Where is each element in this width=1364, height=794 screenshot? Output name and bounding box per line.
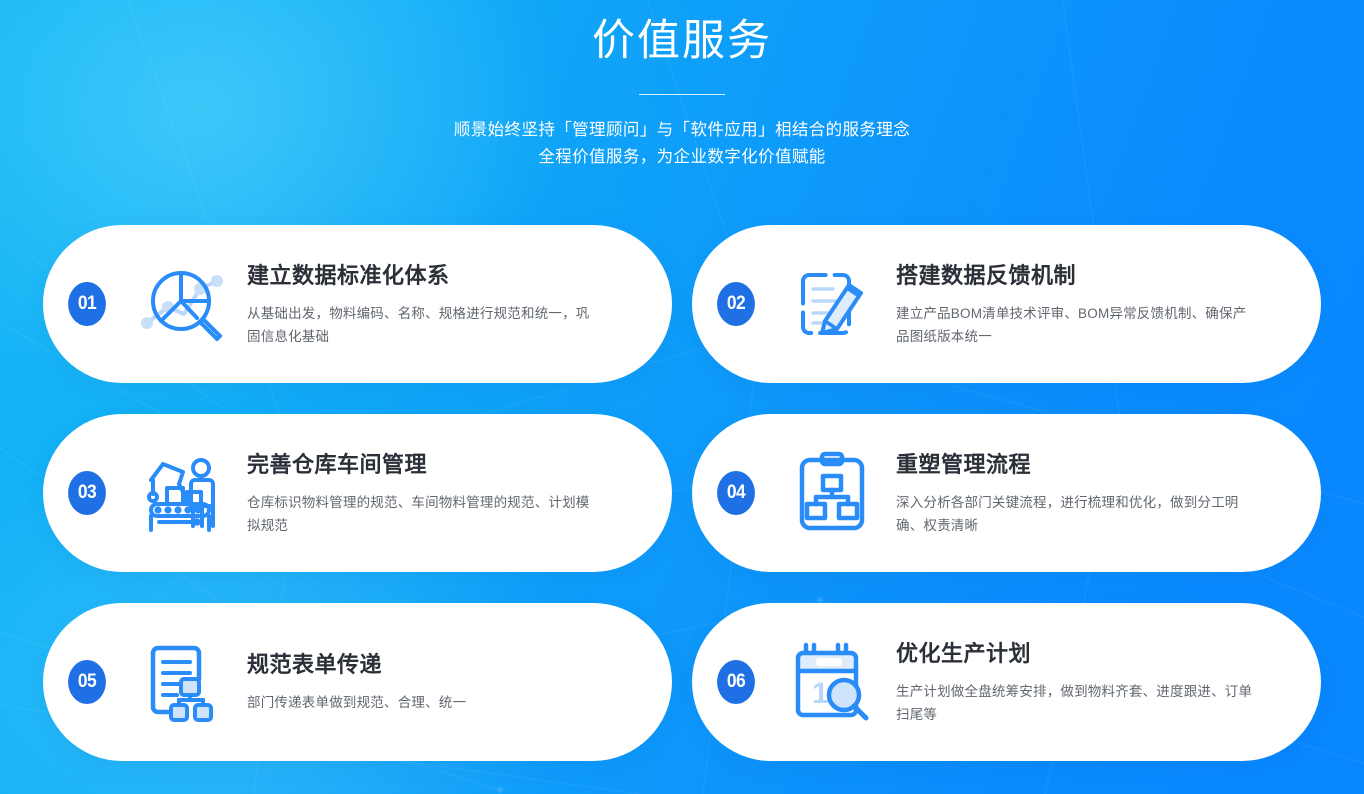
service-card[interactable]: 06 11 优化生产计划	[692, 603, 1321, 761]
card-number-label: 04	[727, 482, 745, 504]
page-title: 价值服务	[0, 10, 1364, 72]
page-header: 价值服务 顺景始终坚持「管理顾问」与「软件应用」相结合的服务理念 全程价值服务，…	[0, 0, 1364, 171]
card-description: 建立产品BOM清单技术评审、BOM异常反馈机制、确保产品图纸版本统一	[896, 302, 1256, 348]
document-pencil-icon	[780, 256, 884, 352]
card-number-badge: 02	[717, 282, 755, 326]
subtitle-line-2: 全程价值服务，为企业数字化价值赋能	[0, 144, 1364, 171]
card-text-block: 重塑管理流程 深入分析各部门关键流程，进行梳理和优化，做到分工明确、权责清晰	[884, 450, 1321, 537]
service-card[interactable]: 04 重塑管理流程 深入分析各部门关键流程，进行梳理和优化，做到分工明确、权责清…	[692, 414, 1321, 572]
card-description: 从基础出发，物料编码、名称、规格进行规范和统一，巩固信息化基础	[247, 302, 592, 348]
clipboard-flowchart-icon	[780, 445, 884, 541]
card-title: 完善仓库车间管理	[247, 450, 648, 480]
card-number-label: 05	[78, 671, 96, 693]
calendar-magnifier-icon: 11	[780, 634, 884, 730]
subtitle-line-1: 顺景始终坚持「管理顾问」与「软件应用」相结合的服务理念	[0, 117, 1364, 144]
card-text-block: 完善仓库车间管理 仓库标识物料管理的规范、车间物料管理的规范、计划模拟规范	[235, 450, 672, 537]
card-description: 部门传递表单做到规范、合理、统一	[247, 691, 592, 714]
title-divider	[639, 94, 725, 95]
card-number-label: 01	[78, 293, 96, 315]
card-number-label: 06	[727, 671, 745, 693]
card-number-badge: 06	[717, 660, 755, 704]
card-title: 优化生产计划	[896, 639, 1297, 669]
service-card-grid: 01	[43, 225, 1321, 761]
service-card[interactable]: 03	[43, 414, 672, 572]
form-flowchart-icon	[131, 634, 235, 730]
service-card[interactable]: 05	[43, 603, 672, 761]
card-number-badge: 05	[68, 660, 106, 704]
card-number-label: 03	[78, 482, 96, 504]
factory-conveyor-worker-icon	[131, 445, 235, 541]
card-text-block: 规范表单传递 部门传递表单做到规范、合理、统一	[235, 650, 672, 714]
card-title: 建立数据标准化体系	[247, 261, 648, 291]
service-card[interactable]: 02 搭建数据反馈机制 建立产品BOM清单技术评审、BOM异常反馈机制、确保产	[692, 225, 1321, 383]
card-description: 深入分析各部门关键流程，进行梳理和优化，做到分工明确、权责清晰	[896, 491, 1256, 537]
card-description: 生产计划做全盘统筹安排，做到物料齐套、进度跟进、订单扫尾等	[896, 680, 1256, 726]
service-card[interactable]: 01	[43, 225, 672, 383]
page-subtitle: 顺景始终坚持「管理顾问」与「软件应用」相结合的服务理念 全程价值服务，为企业数字…	[0, 117, 1364, 171]
card-number-label: 02	[727, 293, 745, 315]
card-title: 搭建数据反馈机制	[896, 261, 1297, 291]
card-number-badge: 03	[68, 471, 106, 515]
card-number-badge: 01	[68, 282, 106, 326]
pie-chart-magnifier-icon	[131, 256, 235, 352]
card-text-block: 搭建数据反馈机制 建立产品BOM清单技术评审、BOM异常反馈机制、确保产品图纸版…	[884, 261, 1321, 348]
card-description: 仓库标识物料管理的规范、车间物料管理的规范、计划模拟规范	[247, 491, 592, 537]
card-title: 重塑管理流程	[896, 450, 1297, 480]
card-text-block: 建立数据标准化体系 从基础出发，物料编码、名称、规格进行规范和统一，巩固信息化基…	[235, 261, 672, 348]
card-title: 规范表单传递	[247, 650, 648, 680]
card-number-badge: 04	[717, 471, 755, 515]
card-text-block: 优化生产计划 生产计划做全盘统筹安排，做到物料齐套、进度跟进、订单扫尾等	[884, 639, 1321, 726]
